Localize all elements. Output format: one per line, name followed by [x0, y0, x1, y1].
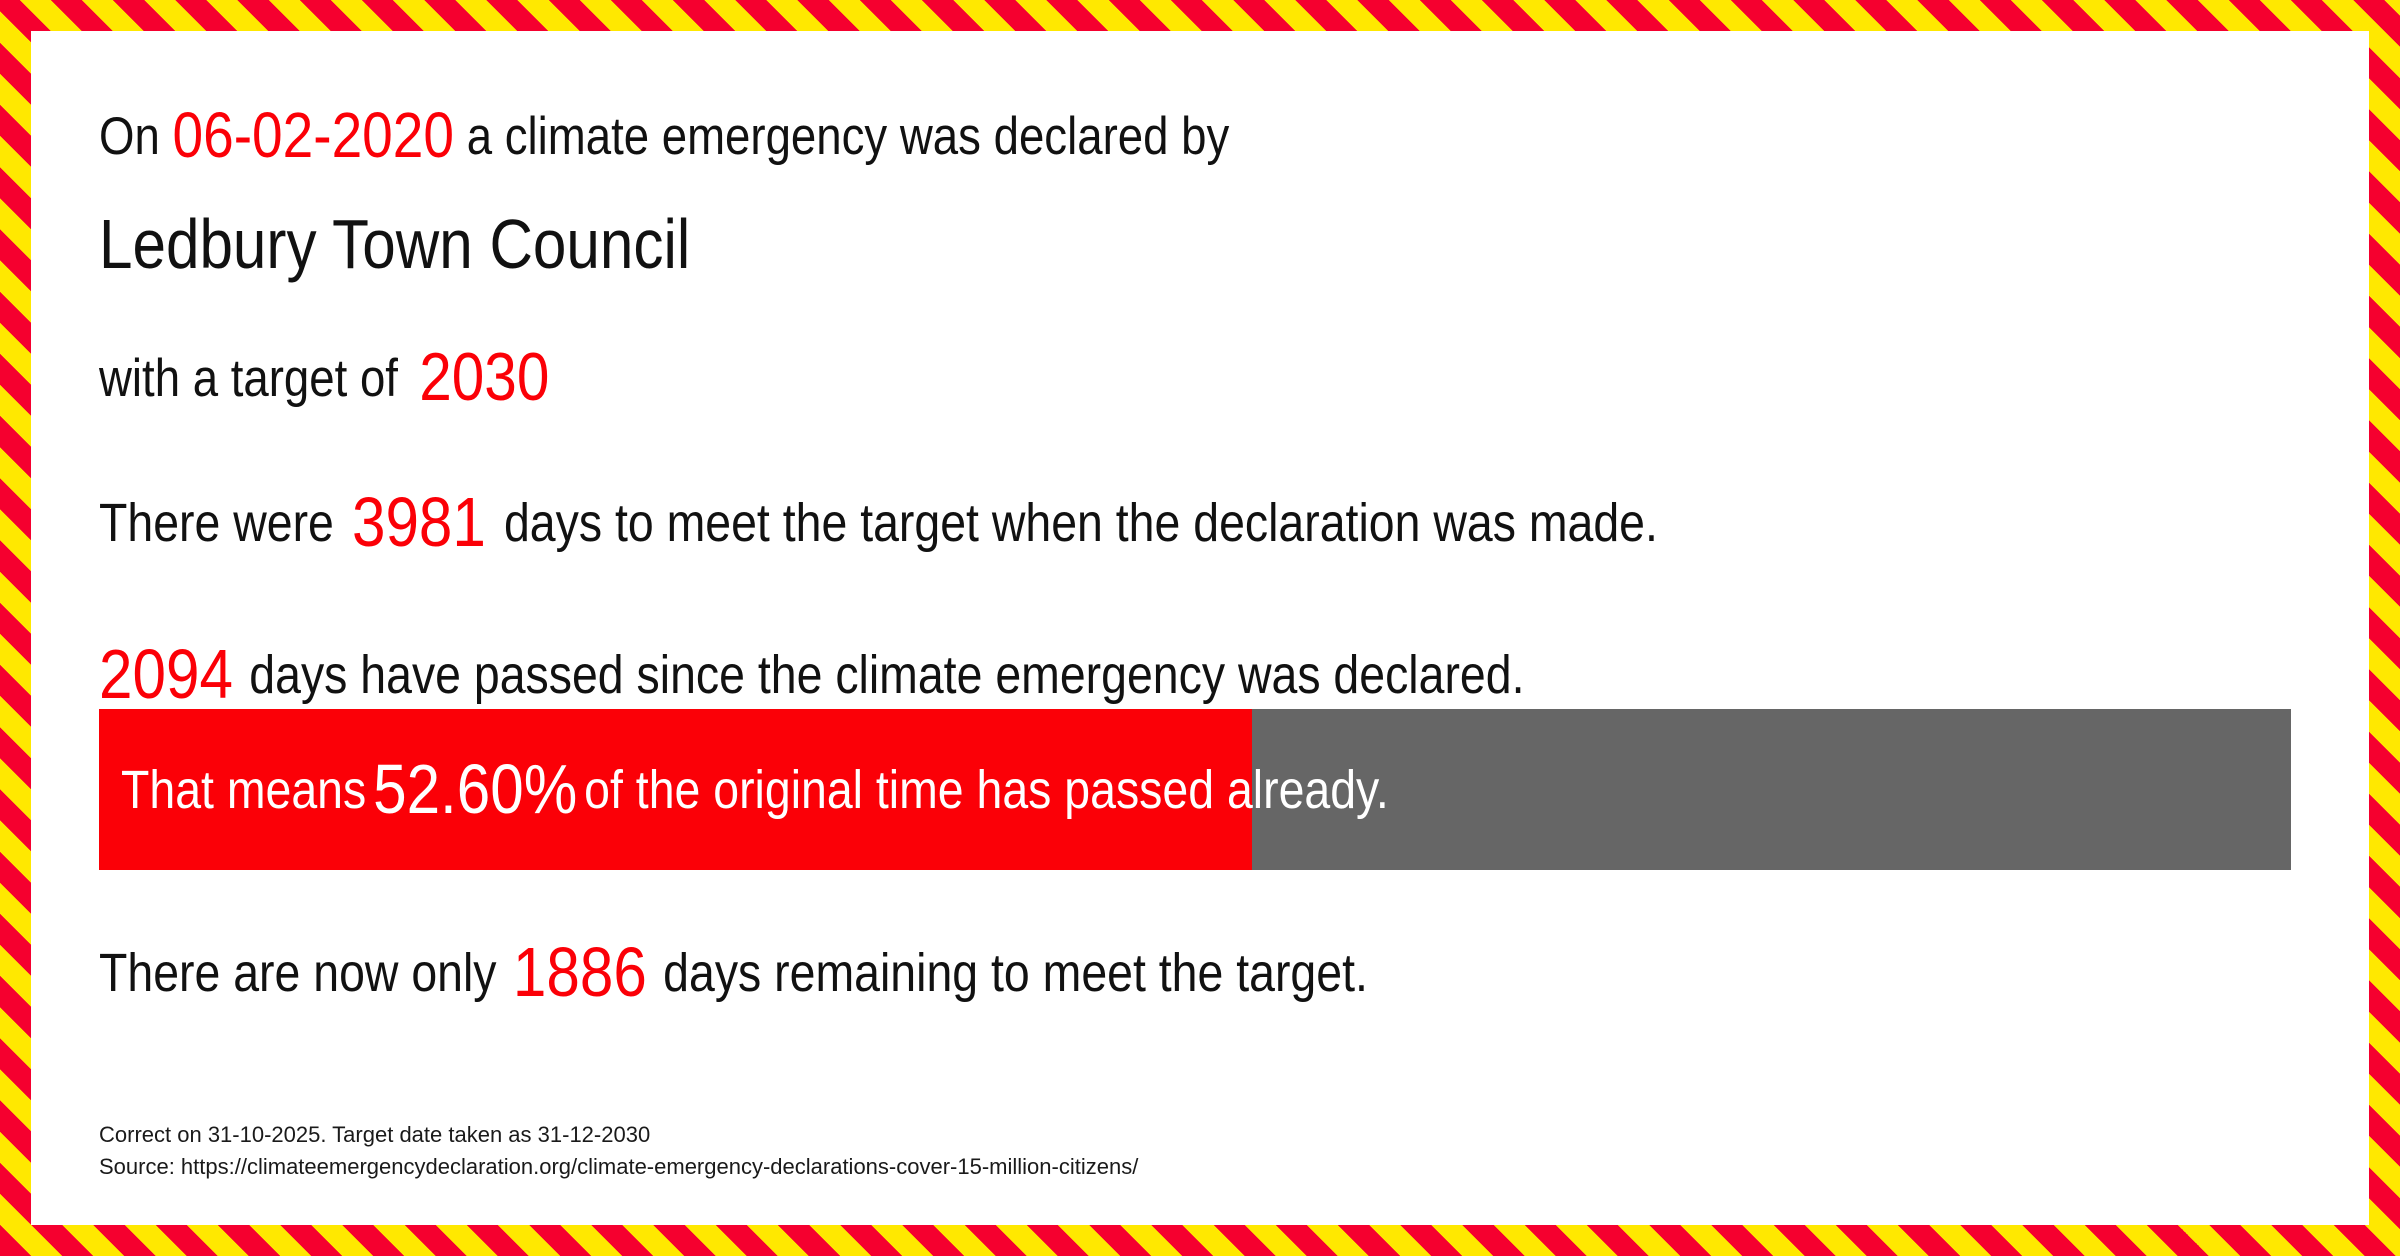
- days-remaining-value: 1886: [513, 933, 647, 1011]
- days-remaining-line: There are now only 1886 days remaining t…: [99, 937, 1368, 1007]
- target-year-value: 2030: [419, 339, 549, 415]
- time-elapsed-progress-bar: That means 52.60% of the original time h…: [99, 709, 2291, 870]
- days-passed-value: 2094: [99, 635, 233, 713]
- hazard-border-poster: On 06-02-2020 a climate emergency was de…: [0, 0, 2400, 1256]
- progress-prefix-text: That means: [121, 763, 366, 817]
- footnote-correct-on: Correct on 31-10-2025. Target date taken…: [99, 1119, 1138, 1151]
- progress-bar-label: That means 52.60% of the original time h…: [121, 709, 1389, 870]
- days-passed-line: 2094 days have passed since the climate …: [99, 639, 1524, 709]
- days-available-value: 3981: [352, 483, 486, 561]
- target-year-line: with a target of 2030: [99, 343, 549, 411]
- content-card: On 06-02-2020 a climate emergency was de…: [31, 31, 2369, 1225]
- days-available-suffix-text: days to meet the target when the declara…: [504, 493, 1658, 553]
- days-passed-suffix-text: days have passed since the climate emerg…: [249, 645, 1524, 705]
- days-available-line: There were 3981 days to meet the target …: [99, 487, 1658, 557]
- declaring-authority-name: Ledbury Town Council: [99, 209, 690, 279]
- declaration-date-value: 06-02-2020: [172, 99, 454, 171]
- declaration-suffix-text: a climate emergency was declared by: [467, 107, 1230, 166]
- days-remaining-suffix-text: days remaining to meet the target.: [663, 943, 1368, 1003]
- footnote-source: Source: https://climateemergencydeclarat…: [99, 1151, 1138, 1183]
- target-prefix-text: with a target of: [99, 349, 398, 408]
- progress-percent-value: 52.60%: [373, 754, 577, 824]
- days-remaining-prefix-text: There are now only: [99, 943, 497, 1003]
- days-available-prefix-text: There were: [99, 493, 334, 553]
- declaration-date-line: On 06-02-2020 a climate emergency was de…: [99, 103, 1229, 167]
- footnotes: Correct on 31-10-2025. Target date taken…: [99, 1119, 1138, 1183]
- progress-suffix-text: of the original time has passed already.: [584, 763, 1389, 817]
- declaration-prefix-text: On: [99, 107, 160, 166]
